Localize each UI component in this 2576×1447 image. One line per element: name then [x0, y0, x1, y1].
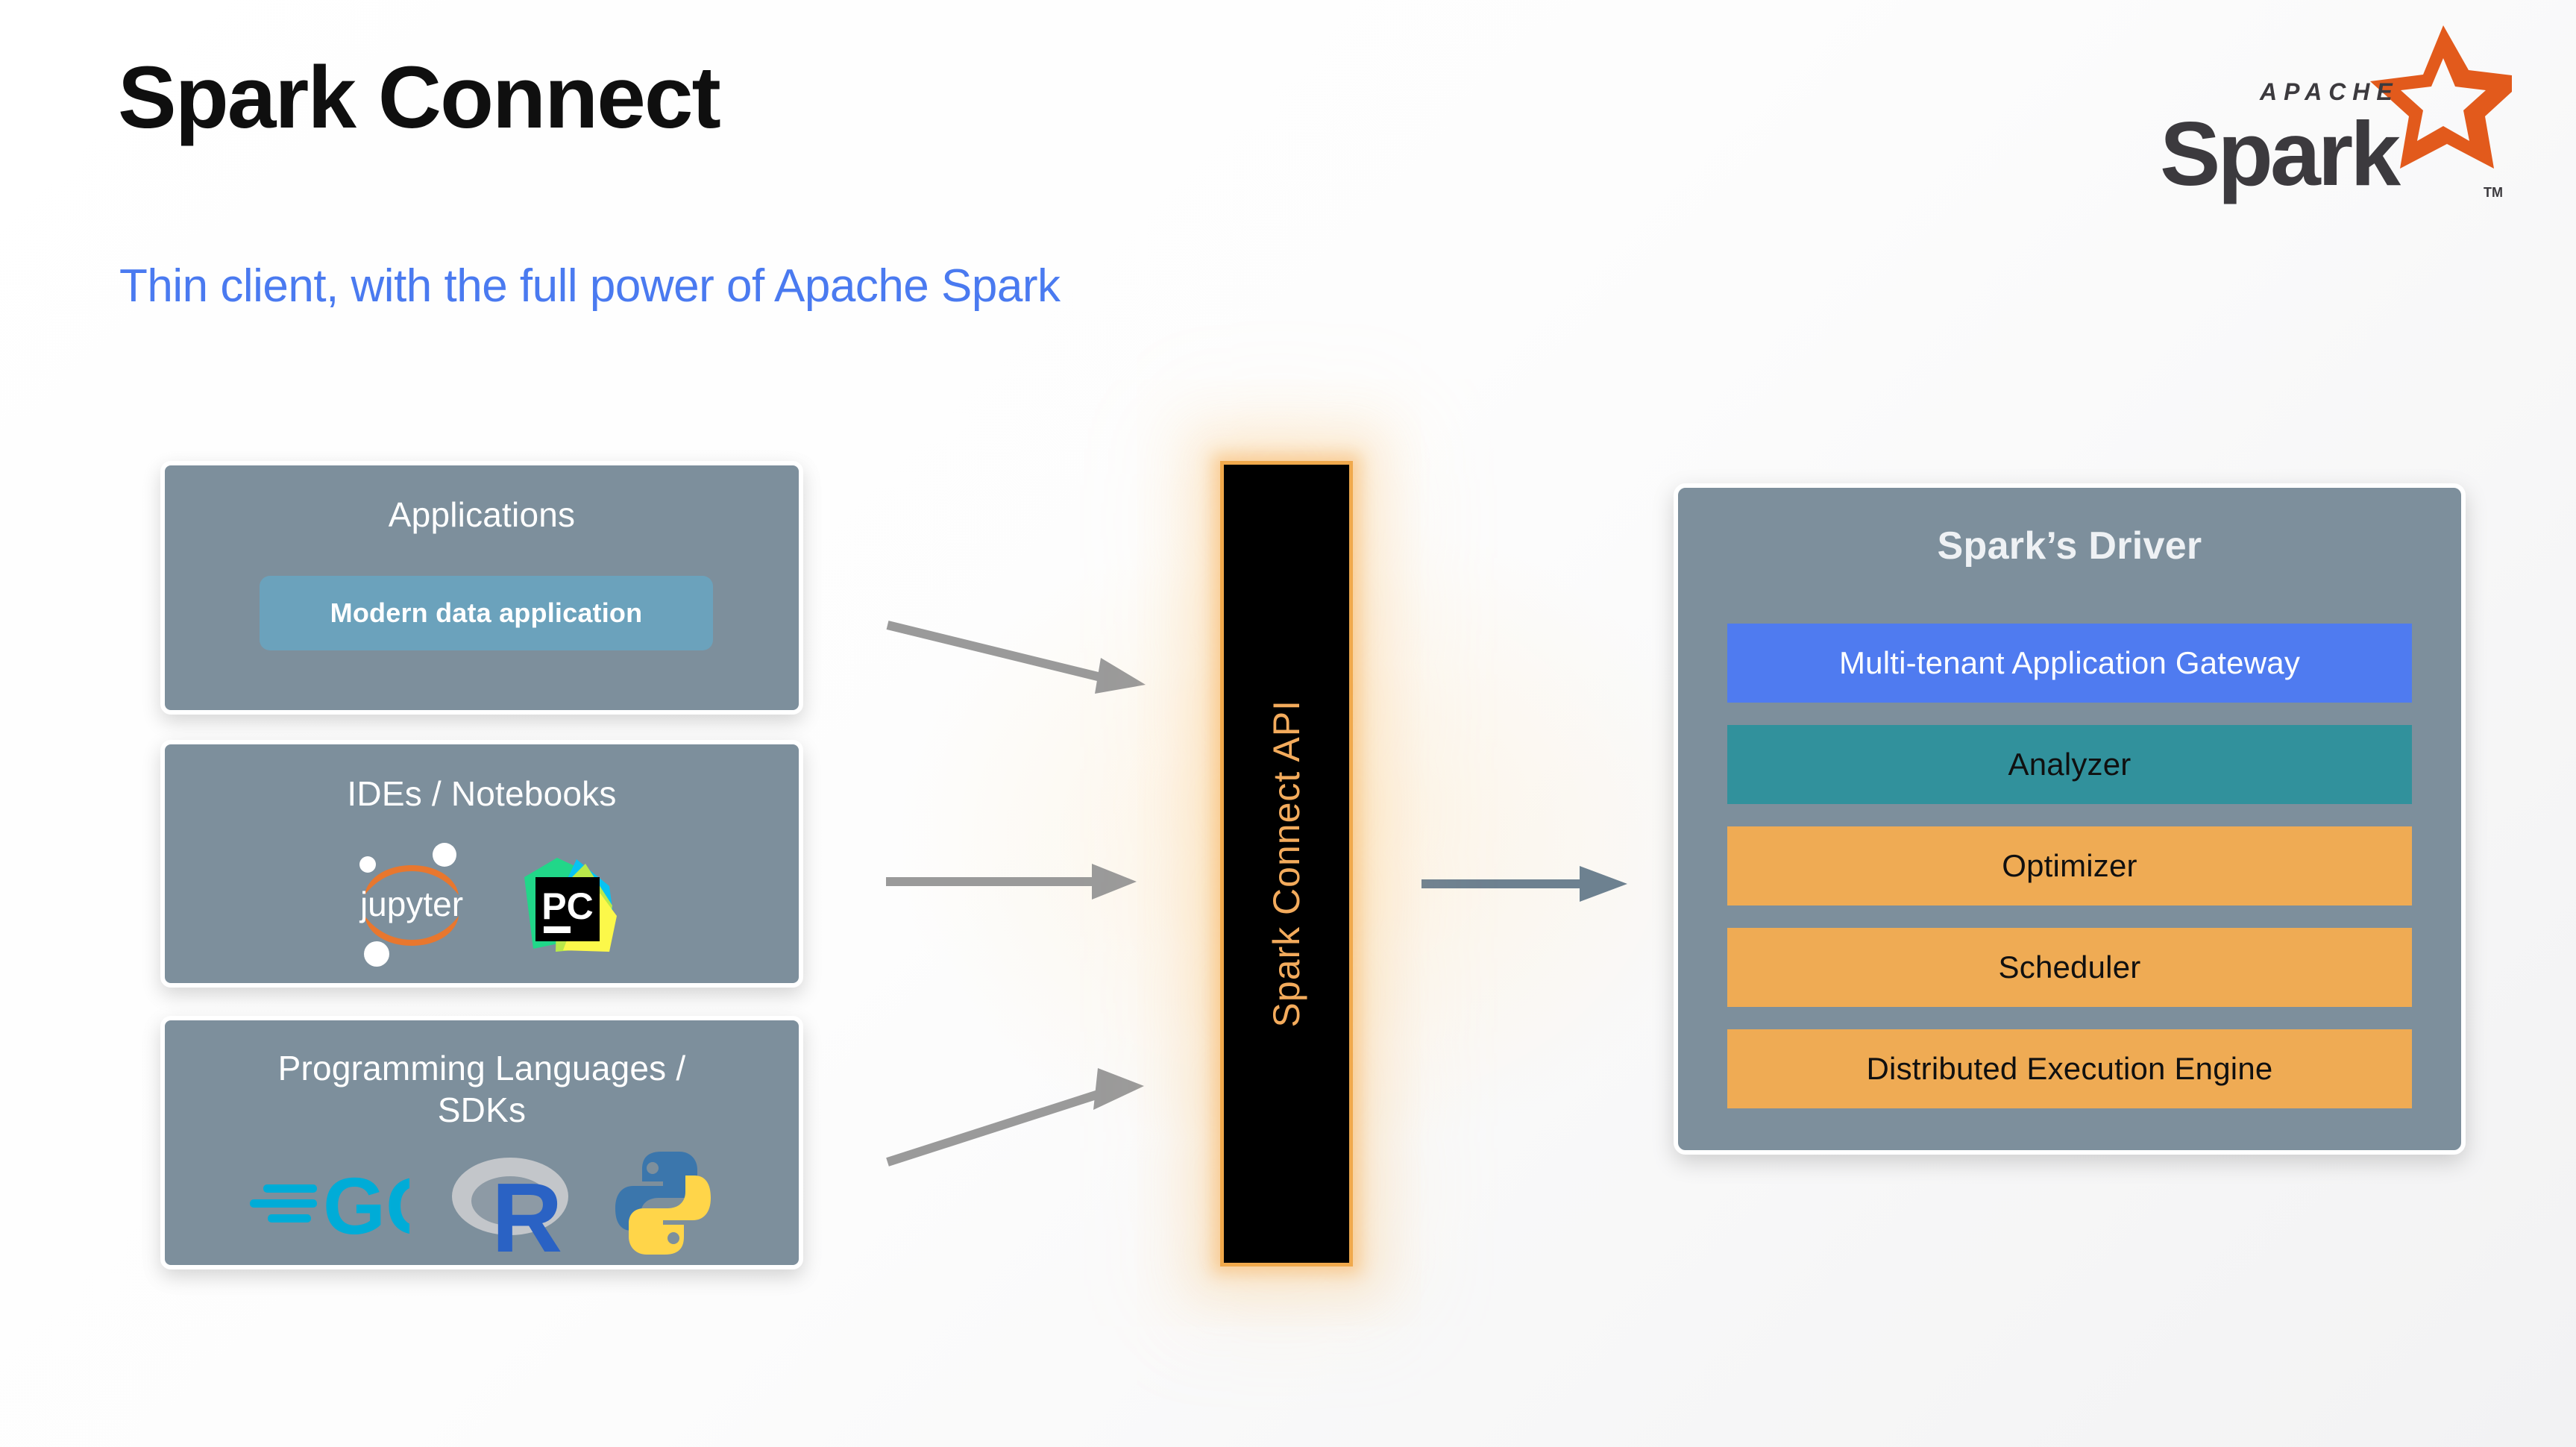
arrow-shaft: [888, 625, 1101, 677]
spark-driver-panel[interactable]: Spark’s Driver Multi‑tenant Application …: [1674, 483, 2466, 1155]
client-card-applications[interactable]: Applications Modern data application: [160, 461, 803, 715]
go-wordmark: GO: [323, 1161, 409, 1250]
card-title-line-2: SDKs: [165, 1089, 799, 1131]
pycharm-logo: PC: [511, 847, 623, 963]
apache-spark-logo-svg: APACHE Spark TM: [2146, 19, 2512, 213]
card-title-applications: Applications: [165, 494, 799, 536]
languages-logo-row: GO R: [165, 1147, 799, 1263]
go-logo: GO: [248, 1156, 409, 1254]
arrow-head: [1580, 866, 1627, 902]
page-subtitle: Thin client, with the full power of Apac…: [119, 260, 1060, 313]
jupyter-dot-bottom-left: [364, 941, 389, 967]
spark-wordmark: Spark: [2160, 103, 2401, 204]
jupyter-dot-top-right: [433, 843, 456, 867]
jupyter-logo-svg: jupyter: [341, 832, 483, 974]
jupyter-dot-top-left: [359, 856, 376, 873]
go-speed-lines-icon: [250, 1184, 317, 1222]
r-logo-svg: R: [447, 1147, 574, 1259]
r-logo: R: [447, 1147, 574, 1263]
pycharm-wordmark: PC: [541, 885, 593, 927]
driver-row-optimizer[interactable]: Optimizer: [1727, 826, 2412, 905]
jupyter-wordmark: jupyter: [359, 885, 463, 923]
python-logo: [611, 1149, 715, 1261]
arrow-languages-to-api: [880, 1044, 1163, 1178]
apache-spark-logo: APACHE Spark TM: [2146, 19, 2512, 213]
ides-logo-row: jupyter PC: [165, 832, 799, 978]
driver-row-gateway[interactable]: Multi‑tenant Application Gateway: [1727, 624, 2412, 703]
page-title: Spark Connect: [118, 52, 720, 145]
r-wordmark: R: [491, 1163, 562, 1259]
arrow-shaft: [888, 1093, 1101, 1162]
card-title-line-1: Programming Languages /: [165, 1047, 799, 1089]
modern-data-application-pill[interactable]: Modern data application: [260, 576, 713, 650]
driver-row-execution-engine[interactable]: Distributed Execution Engine: [1727, 1029, 2412, 1108]
spark-connect-api-panel[interactable]: Spark Connect API: [1220, 461, 1353, 1266]
arrow-applications-to-api: [880, 612, 1163, 716]
spark-connect-api-label: Spark Connect API: [1265, 700, 1308, 1027]
arrow-head: [1093, 1068, 1144, 1110]
apache-wordmark: APACHE: [2259, 78, 2399, 105]
pycharm-logo-svg: PC: [511, 847, 623, 959]
card-title-ides-notebooks: IDEs / Notebooks: [165, 773, 799, 814]
python-logo-svg: [611, 1149, 715, 1258]
jupyter-logo: jupyter: [341, 832, 483, 978]
driver-row-analyzer[interactable]: Analyzer: [1727, 725, 2412, 804]
pycharm-underscore-icon: [544, 926, 571, 933]
driver-row-scheduler[interactable]: Scheduler: [1727, 928, 2412, 1007]
arrow-head: [1092, 864, 1137, 900]
client-card-ides-notebooks[interactable]: IDEs / Notebooks jupyter PC: [160, 740, 803, 988]
card-title-programming-languages: Programming Languages / SDKs: [165, 1047, 799, 1131]
spark-driver-title: Spark’s Driver: [1678, 524, 2461, 568]
spark-driver-row-list: Multi‑tenant Application Gateway Analyze…: [1727, 624, 2412, 1108]
client-card-programming-languages[interactable]: Programming Languages / SDKs GO R: [160, 1016, 803, 1269]
arrow-ides-to-api: [880, 850, 1149, 910]
arrow-head: [1095, 658, 1146, 694]
arrow-api-to-driver: [1417, 854, 1641, 914]
go-logo-svg: GO: [248, 1156, 409, 1250]
trademark-mark: TM: [2484, 185, 2503, 200]
